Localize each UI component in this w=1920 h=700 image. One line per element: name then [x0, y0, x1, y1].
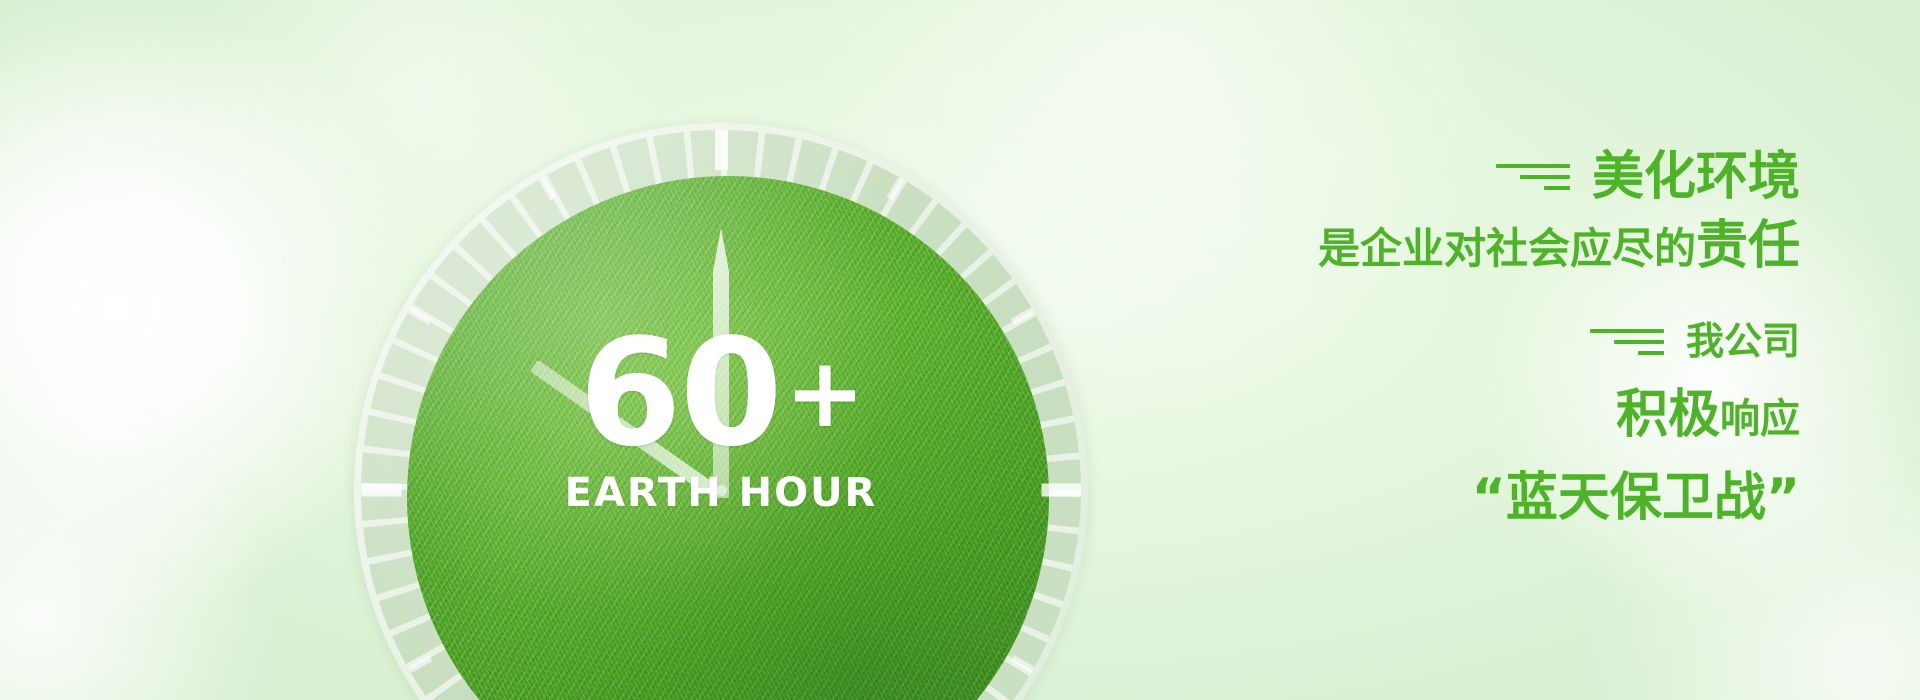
response-row: 积极响应 [1100, 372, 1800, 447]
clock-tick-icon [886, 176, 904, 200]
copy-block-two: 我公司 积极响应 “蓝天保卫战” [1100, 322, 1800, 530]
deco-line-2 [1520, 175, 1570, 179]
deco-line-2 [1614, 340, 1664, 344]
logo-number: 60 [579, 307, 781, 479]
deco-line-3 [1638, 351, 1664, 355]
logo-number-row: 60+ [354, 319, 1088, 467]
subheadline-row: 是企业对社会应尽的责任 [1100, 217, 1800, 277]
logo-plus-sign: + [785, 337, 863, 449]
copy-block-one: 美化环境 是企业对社会应尽的责任 [1100, 150, 1800, 276]
earth-hour-banner: 60+ EARTH HOUR 美化环境 是企业对社会应尽的责任 [0, 0, 1920, 700]
clock-tick-icon [407, 655, 431, 673]
logo-tagline: EARTH HOUR [354, 473, 1088, 513]
subheadline-prefix: 是企业对社会应尽的 [1318, 224, 1696, 273]
response-accent: 积极 [1616, 385, 1720, 445]
company-lead: 我公司 [1686, 322, 1800, 362]
clock-tick-icon [715, 130, 728, 170]
headline-primary: 美化环境 [1592, 150, 1800, 205]
deco-line-3 [1544, 186, 1570, 190]
three-dash-lines-icon [1590, 329, 1664, 355]
lead-row: 我公司 [1100, 322, 1800, 362]
response-rest: 响应 [1720, 396, 1800, 442]
clock-tick-icon [1010, 655, 1034, 673]
earth-hour-logo: 60+ EARTH HOUR [354, 319, 1088, 513]
clock-tick-icon [538, 176, 556, 200]
campaign-quote: “蓝天保卫战” [1100, 455, 1800, 530]
three-dash-lines-icon [1496, 164, 1570, 190]
grass-clock-graphic: 60+ EARTH HOUR [354, 123, 1088, 700]
deco-line-1 [1590, 329, 1664, 333]
headline-row: 美化环境 [1100, 150, 1800, 205]
subheadline-accent: 责任 [1696, 216, 1800, 276]
deco-line-1 [1496, 164, 1570, 168]
marketing-copy: 美化环境 是企业对社会应尽的责任 我公司 积极响应 “蓝天保卫战” [1100, 150, 1800, 576]
